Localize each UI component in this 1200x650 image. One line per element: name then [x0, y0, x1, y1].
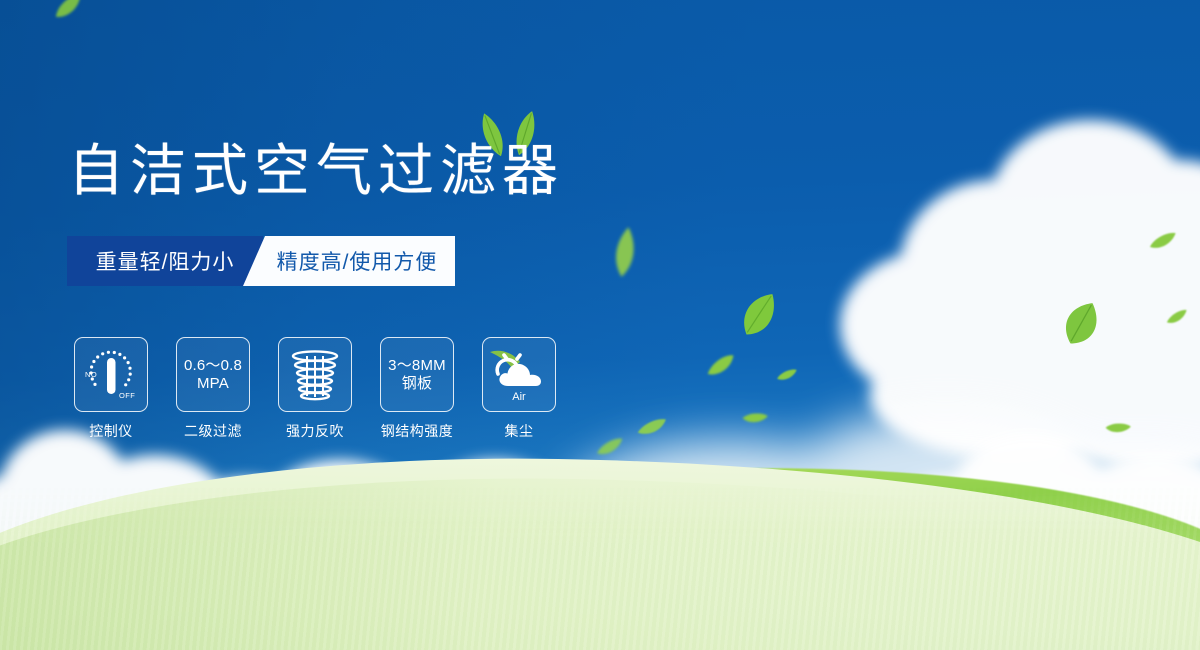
page-title: 自洁式空气过滤器 — [68, 142, 564, 201]
subtitle-badge-right: 精度高/使用方便 — [243, 236, 455, 286]
feature-item-dust-collection[interactable]: Air 集尘 — [478, 337, 560, 441]
cloud-air-icon: Air — [482, 337, 556, 412]
filter-cartridge-icon — [278, 337, 352, 412]
pressure-unit: MPA — [184, 375, 242, 392]
subtitle-badge-left: 重量轻/阻力小 — [67, 236, 263, 286]
subtitle-badge-right-label: 精度高/使用方便 — [261, 246, 438, 276]
feature-item-back-blow[interactable]: 强力反吹 — [274, 337, 356, 441]
steel-thickness: 3～8MM — [388, 357, 446, 374]
air-label: Air — [512, 391, 526, 403]
feature-label: 集尘 — [505, 421, 534, 441]
subtitle-bar: 重量轻/阻力小 精度高/使用方便 — [67, 236, 457, 286]
pressure-value: 0.6～0.8 — [184, 357, 242, 374]
product-banner: 自洁式空气过滤器 重量轻/阻力小 精度高/使用方便 — [0, 0, 1200, 650]
feature-label: 钢结构强度 — [381, 421, 454, 441]
feature-item-steel-strength[interactable]: 3～8MM 钢板 钢结构强度 — [376, 337, 458, 441]
svg-text:NO: NO — [85, 370, 97, 379]
feature-item-two-stage-filter[interactable]: 0.6～0.8 MPA 二级过滤 — [172, 337, 254, 441]
feature-label: 控制仪 — [89, 421, 133, 441]
subtitle-badge-left-label: 重量轻/阻力小 — [96, 246, 235, 276]
feature-label: 二级过滤 — [184, 421, 242, 441]
steel-plate-text-icon: 3～8MM 钢板 — [380, 337, 454, 412]
feature-item-control-dial[interactable]: NO OFF 控制仪 — [70, 337, 152, 441]
svg-text:OFF: OFF — [119, 391, 135, 400]
feature-label: 强力反吹 — [286, 421, 344, 441]
steel-material: 钢板 — [388, 375, 446, 392]
feature-list: NO OFF 控制仪 0.6～0.8 MPA 二级过滤 — [70, 337, 580, 441]
control-dial-icon: NO OFF — [74, 337, 148, 412]
pressure-text-icon: 0.6～0.8 MPA — [176, 337, 250, 412]
